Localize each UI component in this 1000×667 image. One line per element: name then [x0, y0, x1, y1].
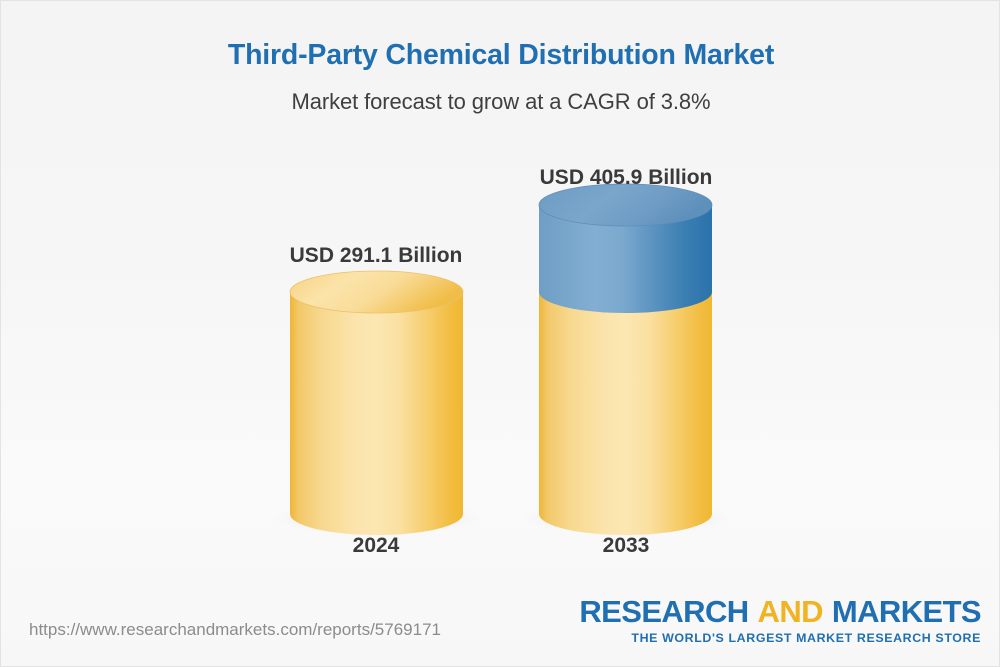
- value-label-2033: USD 405.9 Billion: [526, 166, 726, 190]
- logo-word-and: AND: [758, 594, 823, 629]
- logo-wordmark: RESEARCHANDMARKETS: [579, 596, 981, 627]
- logo-word-markets: MARKETS: [832, 594, 981, 629]
- bar-2033-top-cap: [539, 184, 712, 226]
- bar-2033-base-segment: [539, 292, 712, 535]
- bar-2033-base-body: [539, 292, 712, 535]
- infographic-canvas: Third-Party Chemical Distribution Market…: [0, 0, 1000, 667]
- cylinder-bar-chart-svg: [1, 1, 1000, 667]
- research-and-markets-logo[interactable]: RESEARCHANDMARKETS THE WORLD'S LARGEST M…: [579, 596, 981, 644]
- chart-plot-area: USD 291.1 Billion USD 405.9 Billion 2024…: [1, 1, 1000, 667]
- bar-2024-top-cap: [290, 271, 463, 313]
- bar-2024-body: [290, 292, 463, 535]
- category-label-2024: 2024: [276, 534, 476, 558]
- logo-tagline: THE WORLD'S LARGEST MARKET RESEARCH STOR…: [579, 632, 981, 644]
- value-label-2024: USD 291.1 Billion: [276, 244, 476, 268]
- logo-word-research: RESEARCH: [579, 594, 748, 629]
- category-label-2033: 2033: [526, 534, 726, 558]
- source-url[interactable]: https://www.researchandmarkets.com/repor…: [29, 620, 441, 640]
- bar-2024-cylinder: [290, 271, 463, 535]
- bar-2033-growth-segment: [539, 184, 712, 313]
